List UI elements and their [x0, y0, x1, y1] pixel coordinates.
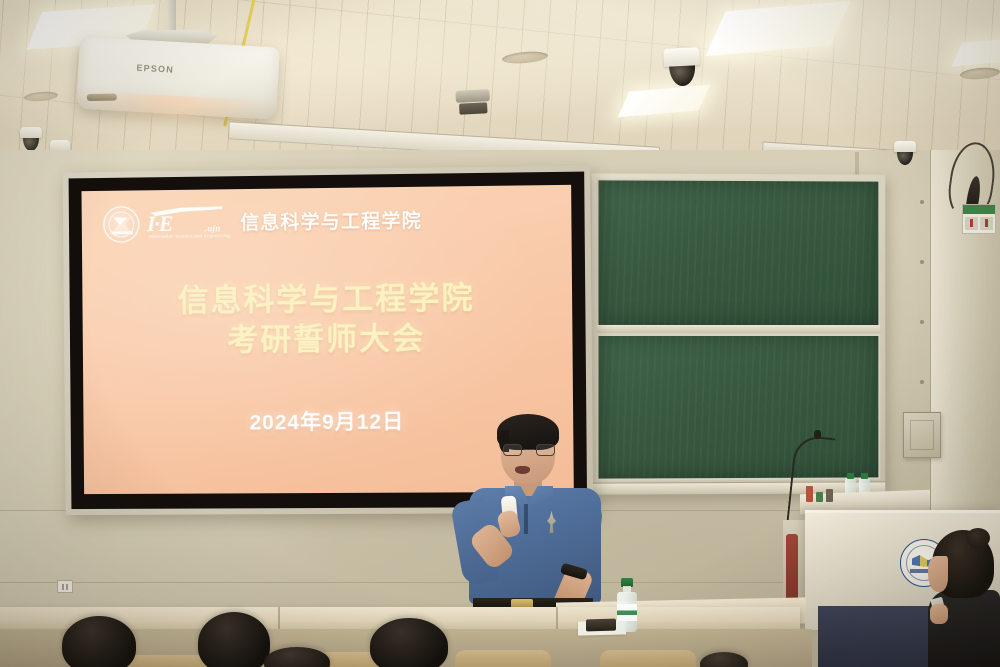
projector-ceiling-pole	[168, 0, 176, 32]
wall-junction-box	[903, 412, 941, 458]
eyeglasses-icon	[503, 444, 555, 456]
dome-camera-center-icon	[663, 47, 701, 83]
presenter-mouth	[515, 466, 530, 474]
podium-item-pen	[826, 489, 833, 502]
student-face	[928, 556, 948, 592]
podium-red-object	[786, 534, 798, 606]
chalkboard-panel-top	[596, 178, 880, 327]
dome-camera-right-icon	[894, 141, 916, 162]
college-seal-icon	[103, 206, 139, 242]
dome-camera-left-1-icon	[20, 127, 42, 148]
ie-logo: I·E .ujn Information Science and Enginee…	[147, 206, 233, 241]
slide-title-line-2: 考研誓师大会	[83, 318, 573, 363]
slide-header: I·E .ujn Information Science and Enginee…	[103, 203, 422, 243]
student-hair-bun	[966, 528, 990, 548]
chair-back-3	[455, 650, 551, 667]
ceiling-speaker	[455, 89, 490, 117]
ie-logo-caption: Information Science and Engineering	[149, 233, 230, 239]
green-chalkboard	[591, 173, 885, 494]
slide-header-title: 信息科学与工程学院	[240, 211, 422, 232]
podium-item-marker	[806, 486, 813, 502]
presenter-shirt-placket	[524, 504, 528, 534]
student-with-phone	[926, 530, 1000, 667]
audience-head-1	[62, 616, 136, 667]
audience-head-2	[198, 612, 270, 667]
chair-back-4	[600, 650, 696, 667]
slide-title: 信息科学与工程学院 考研誓师大会	[82, 277, 572, 362]
chalkboard-panel-bottom	[596, 334, 880, 481]
ie-logo-text: I·E	[147, 213, 173, 235]
desk-seam-2	[556, 607, 558, 631]
gooseneck-microphone-head	[814, 430, 821, 439]
podium-item-eraser	[816, 492, 823, 502]
student-hand	[930, 604, 948, 624]
ie-logo-suffix: .ujn	[204, 224, 220, 233]
podium-shelf-items	[806, 486, 833, 502]
wall-outlet-left	[57, 580, 73, 593]
desk-seam-1	[278, 607, 280, 631]
safety-sign	[962, 204, 996, 234]
lecture-hall-scene: EPSON	[0, 0, 1000, 667]
projector-brand-label: EPSON	[136, 63, 174, 75]
water-bottle-desk	[616, 578, 638, 632]
presentation-clicker	[586, 619, 616, 632]
slide-title-line-1: 信息科学与工程学院	[178, 280, 475, 318]
audience-head-3	[370, 618, 448, 667]
chalkboard-middle-rail	[596, 325, 880, 333]
